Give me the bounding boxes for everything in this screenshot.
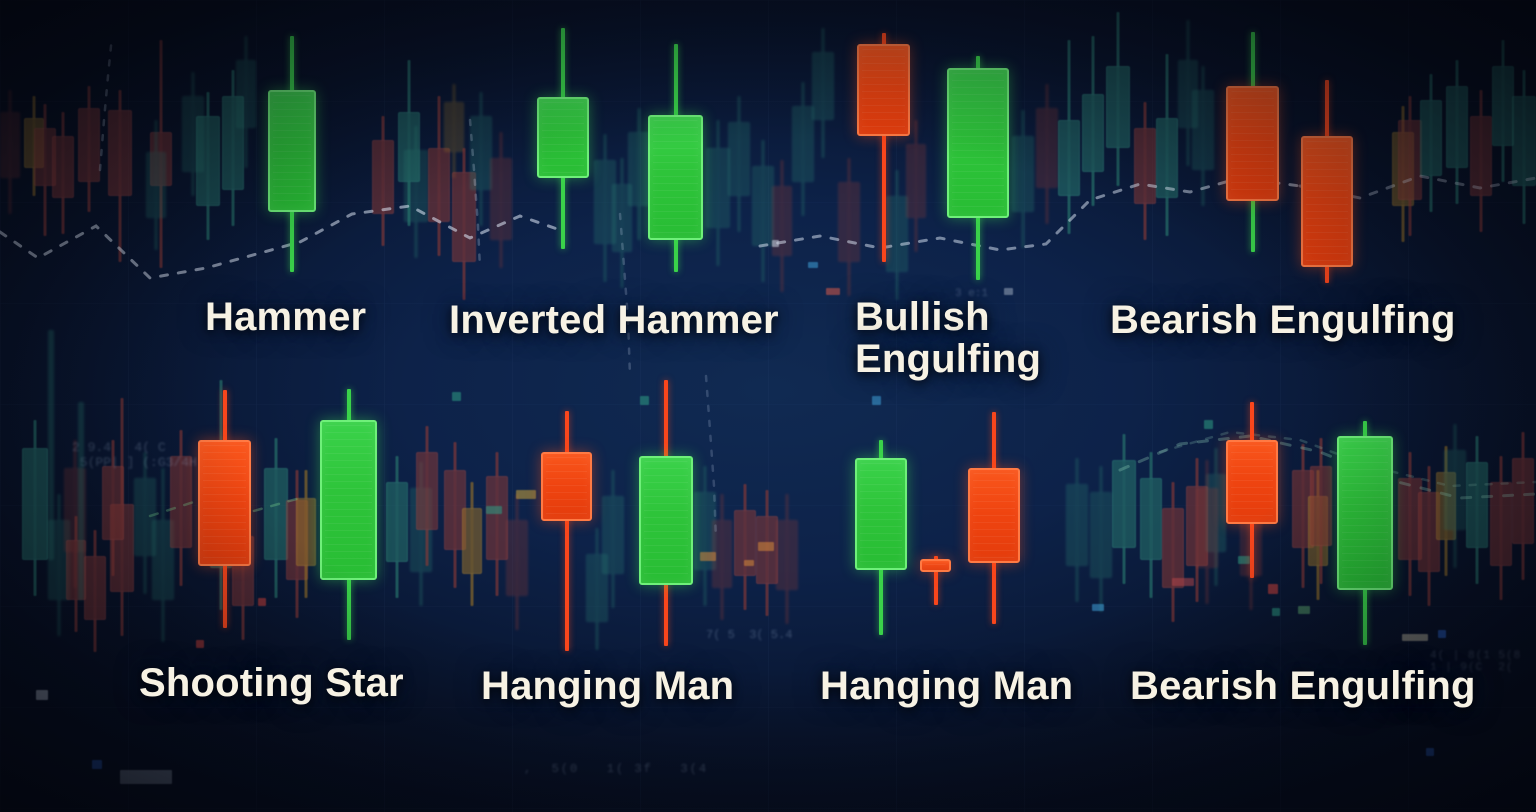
- pattern-label-hanging-man-2: Hanging Man: [820, 665, 1073, 707]
- pattern-label-inverted-hammer: Inverted Hammer: [449, 299, 779, 341]
- pattern-label-hammer: Hammer: [205, 296, 366, 338]
- pattern-label-bearish-engulfing-bottom: Bearish Engulfing: [1130, 665, 1476, 707]
- pattern-label-hanging-man-1: Hanging Man: [481, 665, 734, 707]
- pattern-label-bearish-engulfing-top: Bearish Engulfing: [1110, 299, 1456, 341]
- candlestick-pattern-infographic: 2 9.4 4( C 5(PP| ] (:G3/4H , 5(0 1( 3f 3…: [0, 0, 1536, 812]
- pattern-label-bullish-engulfing: Bullish Engulfing: [855, 296, 1041, 381]
- pattern-label-shooting-star: Shooting Star: [139, 662, 404, 704]
